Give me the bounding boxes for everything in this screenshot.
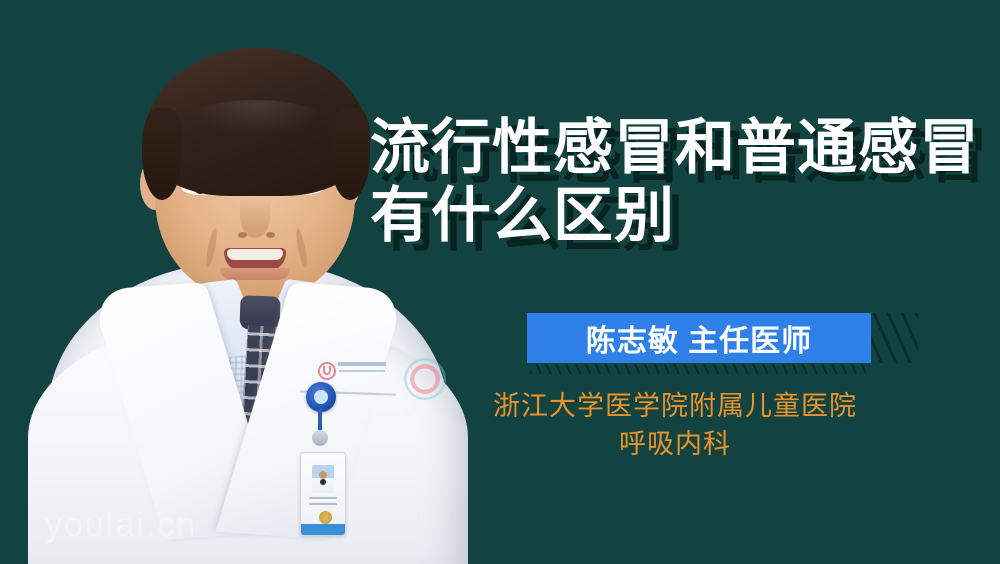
badge-reel-clip	[312, 430, 328, 446]
teeth	[227, 249, 283, 260]
hospital-name: 浙江大学医学院附属儿童医院	[370, 386, 980, 426]
nostril-left	[238, 232, 247, 238]
hair-side-left	[142, 108, 182, 200]
department-name: 呼吸内科	[370, 424, 980, 464]
doctor-name-and-rank: 陈志敏 主任医师	[586, 316, 812, 360]
hair-side-right	[330, 108, 370, 200]
hospital-name-embroidery	[338, 362, 386, 366]
id-card-seal	[319, 511, 332, 524]
video-thumbnail-canvas: 流行性感冒和普通感冒 有什么区别 陈志敏 主任医师 浙江大学医学院附属儿童医院 …	[0, 0, 1000, 564]
nostril-right	[266, 232, 275, 238]
id-card-photo	[312, 465, 334, 493]
title-line-2: 有什么区别	[370, 182, 980, 250]
video-title: 流行性感冒和普通感冒 有什么区别	[370, 114, 980, 250]
hatch-decoration-bottom	[530, 364, 866, 374]
doctor-portrait	[0, 0, 470, 564]
title-line-1: 流行性感冒和普通感冒	[370, 114, 980, 182]
id-card-line	[309, 497, 337, 499]
hospital-logo-icon	[318, 362, 336, 380]
site-watermark: youlai.cn	[45, 508, 197, 542]
hatch-decoration-right	[866, 313, 918, 363]
id-card-footer-strip	[301, 524, 345, 535]
id-card-icon	[300, 452, 346, 536]
doctor-name-badge: 陈志敏 主任医师	[527, 313, 871, 363]
id-card-line	[309, 503, 337, 505]
necktie-knot	[239, 295, 280, 330]
lower-lip	[220, 268, 290, 280]
